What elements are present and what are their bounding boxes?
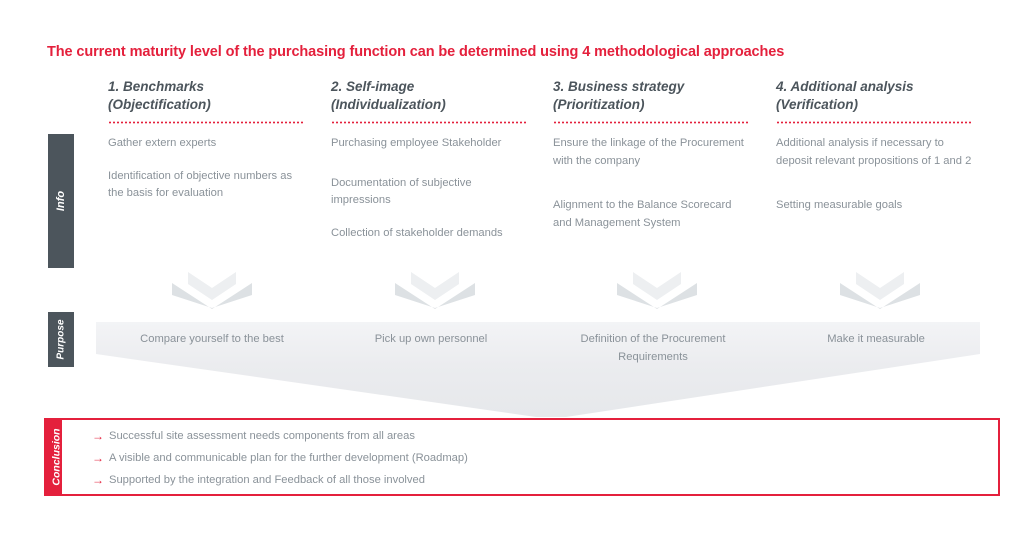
dotted-divider xyxy=(108,121,303,124)
approach-body-2: Purchasing employee Stakeholder Document… xyxy=(331,135,531,242)
page-title: The current maturity level of the purcha… xyxy=(47,44,784,60)
approach-heading-3-line2: (Prioritization) xyxy=(553,96,753,114)
approach-paragraph: Documentation of subjective impressions xyxy=(331,175,531,210)
purpose-caption-2: Pick up own personnel xyxy=(331,331,531,349)
stage-label-info-text: Info xyxy=(55,191,67,211)
conclusion-list-item-text: Supported by the integration and Feedbac… xyxy=(109,473,425,488)
purpose-caption-1: Compare yourself to the best xyxy=(112,331,312,349)
approach-paragraph: Setting measurable goals xyxy=(776,197,976,215)
approach-heading-2: 2. Self-image (Individualization) xyxy=(331,78,531,114)
stage-label-purpose: Purpose xyxy=(48,312,74,367)
approach-paragraph: Identification of objective numbers as t… xyxy=(108,168,308,203)
approach-paragraph: Collection of stakeholder demands xyxy=(331,225,531,243)
approach-heading-1-line1: 1. Benchmarks xyxy=(108,78,308,96)
approach-paragraph: Purchasing employee Stakeholder xyxy=(331,135,531,153)
conclusion-list-item: → Supported by the integration and Feedb… xyxy=(92,473,998,488)
approach-heading-4-line1: 4. Additional analysis xyxy=(776,78,976,96)
stage-label-info: Info xyxy=(48,134,74,268)
approach-heading-2-line1: 2. Self-image xyxy=(331,78,531,96)
approach-column-4: 4. Additional analysis (Verification) Ad… xyxy=(776,78,976,230)
approach-body-4: Additional analysis if necessary to depo… xyxy=(776,135,976,215)
arrow-right-icon: → xyxy=(92,451,109,466)
approach-body-1: Gather extern experts Identification of … xyxy=(108,135,308,203)
approach-heading-1-line2: (Objectification) xyxy=(108,96,308,114)
chevron-down-double-icon xyxy=(170,270,254,310)
approach-paragraph: Gather extern experts xyxy=(108,135,308,153)
approach-column-1: 1. Benchmarks (Objectification) Gather e… xyxy=(108,78,308,218)
approach-heading-2-line2: (Individualization) xyxy=(331,96,531,114)
dotted-divider xyxy=(553,121,748,124)
approach-paragraph: Alignment to the Balance Scorecard and M… xyxy=(553,197,753,232)
approach-body-3: Ensure the linkage of the Procurement wi… xyxy=(553,135,753,232)
conclusion-box: → Successful site assessment needs compo… xyxy=(60,418,1000,496)
approach-heading-4-line2: (Verification) xyxy=(776,96,976,114)
approach-column-2: 2. Self-image (Individualization) Purcha… xyxy=(331,78,531,257)
approach-paragraph: Additional analysis if necessary to depo… xyxy=(776,135,976,170)
chevron-down-double-icon xyxy=(838,270,922,310)
approach-column-3: 3. Business strategy (Prioritization) En… xyxy=(553,78,753,247)
approach-heading-4: 4. Additional analysis (Verification) xyxy=(776,78,976,114)
chevron-down-double-icon xyxy=(393,270,477,310)
chevron-down-double-icon xyxy=(615,270,699,310)
approach-heading-1: 1. Benchmarks (Objectification) xyxy=(108,78,308,114)
conclusion-list-item-text: A visible and communicable plan for the … xyxy=(109,451,468,466)
arrow-right-icon: → xyxy=(92,429,109,444)
dotted-divider xyxy=(776,121,971,124)
stage-label-purpose-text: Purpose xyxy=(56,319,67,359)
approach-heading-3: 3. Business strategy (Prioritization) xyxy=(553,78,753,114)
approach-heading-3-line1: 3. Business strategy xyxy=(553,78,753,96)
arrow-right-icon: → xyxy=(92,473,109,488)
approach-paragraph: Ensure the linkage of the Procurement wi… xyxy=(553,135,753,170)
conclusion-list-item: → A visible and communicable plan for th… xyxy=(92,451,998,466)
purpose-caption-4: Make it measurable xyxy=(776,331,976,349)
conclusion-list-item-text: Successful site assessment needs compone… xyxy=(109,429,415,444)
purpose-caption-3: Definition of the Procurement Requiremen… xyxy=(553,331,753,366)
conclusion-list-item: → Successful site assessment needs compo… xyxy=(92,429,998,444)
dotted-divider xyxy=(331,121,526,124)
